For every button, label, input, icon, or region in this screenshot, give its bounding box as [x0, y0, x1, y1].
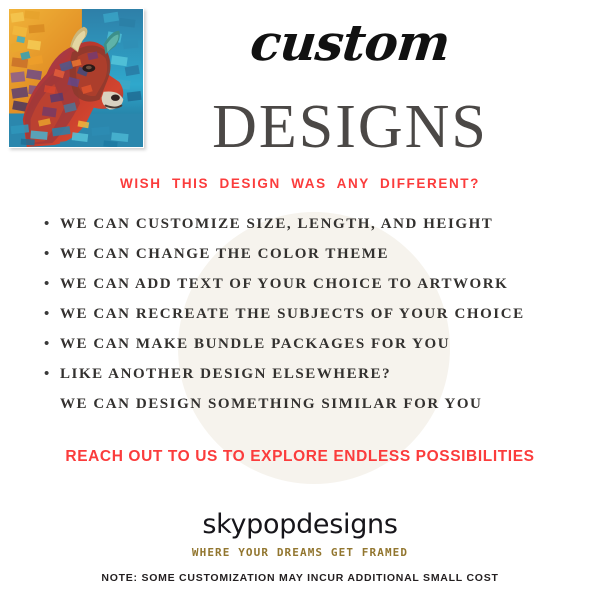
- script-heading-custom: custom: [147, 18, 552, 68]
- brand-logo-text: skypopdesigns: [0, 509, 600, 540]
- list-item: • WE CAN RECREATE THE SUBJECTS OF YOUR C…: [44, 306, 589, 336]
- feature-list: • WE CAN CUSTOMIZE SIZE, LENGTH, AND HEI…: [44, 216, 589, 426]
- call-to-action-text: REACH OUT TO US TO EXPLORE ENDLESS POSSI…: [0, 448, 600, 466]
- bullet-point-icon: •: [44, 246, 60, 261]
- list-item: • WE CAN ADD TEXT OF YOUR CHOICE TO ARTW…: [44, 276, 589, 306]
- list-item-label: WE CAN RECREATE THE SUBJECTS OF YOUR CHO…: [60, 306, 525, 323]
- list-item-label: WE CAN ADD TEXT OF YOUR CHOICE TO ARTWOR…: [60, 276, 508, 293]
- list-item: • LIKE ANOTHER DESIGN ELSEWHERE?: [44, 366, 589, 396]
- bullet-point-icon: •: [44, 276, 60, 291]
- bullet-point-icon: •: [44, 306, 60, 321]
- list-item-label: WE CAN CUSTOMIZE SIZE, LENGTH, AND HEIGH…: [60, 216, 493, 233]
- bullet-point-icon: •: [44, 336, 60, 351]
- list-item-continuation: WE CAN DESIGN SOMETHING SIMILAR FOR YOU: [44, 396, 589, 426]
- list-item-label: WE CAN MAKE BUNDLE PACKAGES FOR YOU: [60, 336, 450, 353]
- list-item-label: WE CAN CHANGE THE COLOR THEME: [60, 246, 389, 263]
- list-item: • WE CAN MAKE BUNDLE PACKAGES FOR YOU: [44, 336, 589, 366]
- page-title: DESIGNS: [130, 96, 570, 158]
- poster-canvas: custom DESIGNS WISH THIS DESIGN WAS ANY …: [0, 0, 600, 600]
- list-item: • WE CAN CUSTOMIZE SIZE, LENGTH, AND HEI…: [44, 216, 589, 246]
- bullet-point-icon: •: [44, 216, 60, 231]
- brand-tagline: WHERE YOUR DREAMS GET FRAMED: [0, 546, 600, 559]
- subheading-question: WISH THIS DESIGN WAS ANY DIFFERENT?: [0, 176, 600, 191]
- bison-painting-thumbnail: [8, 8, 144, 148]
- list-item: • WE CAN CHANGE THE COLOR THEME: [44, 246, 589, 276]
- footer-note: NOTE: SOME CUSTOMIZATION MAY INCUR ADDIT…: [0, 572, 600, 584]
- bison-painting-svg: [9, 9, 143, 147]
- list-item-label: LIKE ANOTHER DESIGN ELSEWHERE?: [60, 366, 391, 383]
- bullet-point-icon: •: [44, 366, 60, 381]
- list-item-label: WE CAN DESIGN SOMETHING SIMILAR FOR YOU: [60, 396, 482, 413]
